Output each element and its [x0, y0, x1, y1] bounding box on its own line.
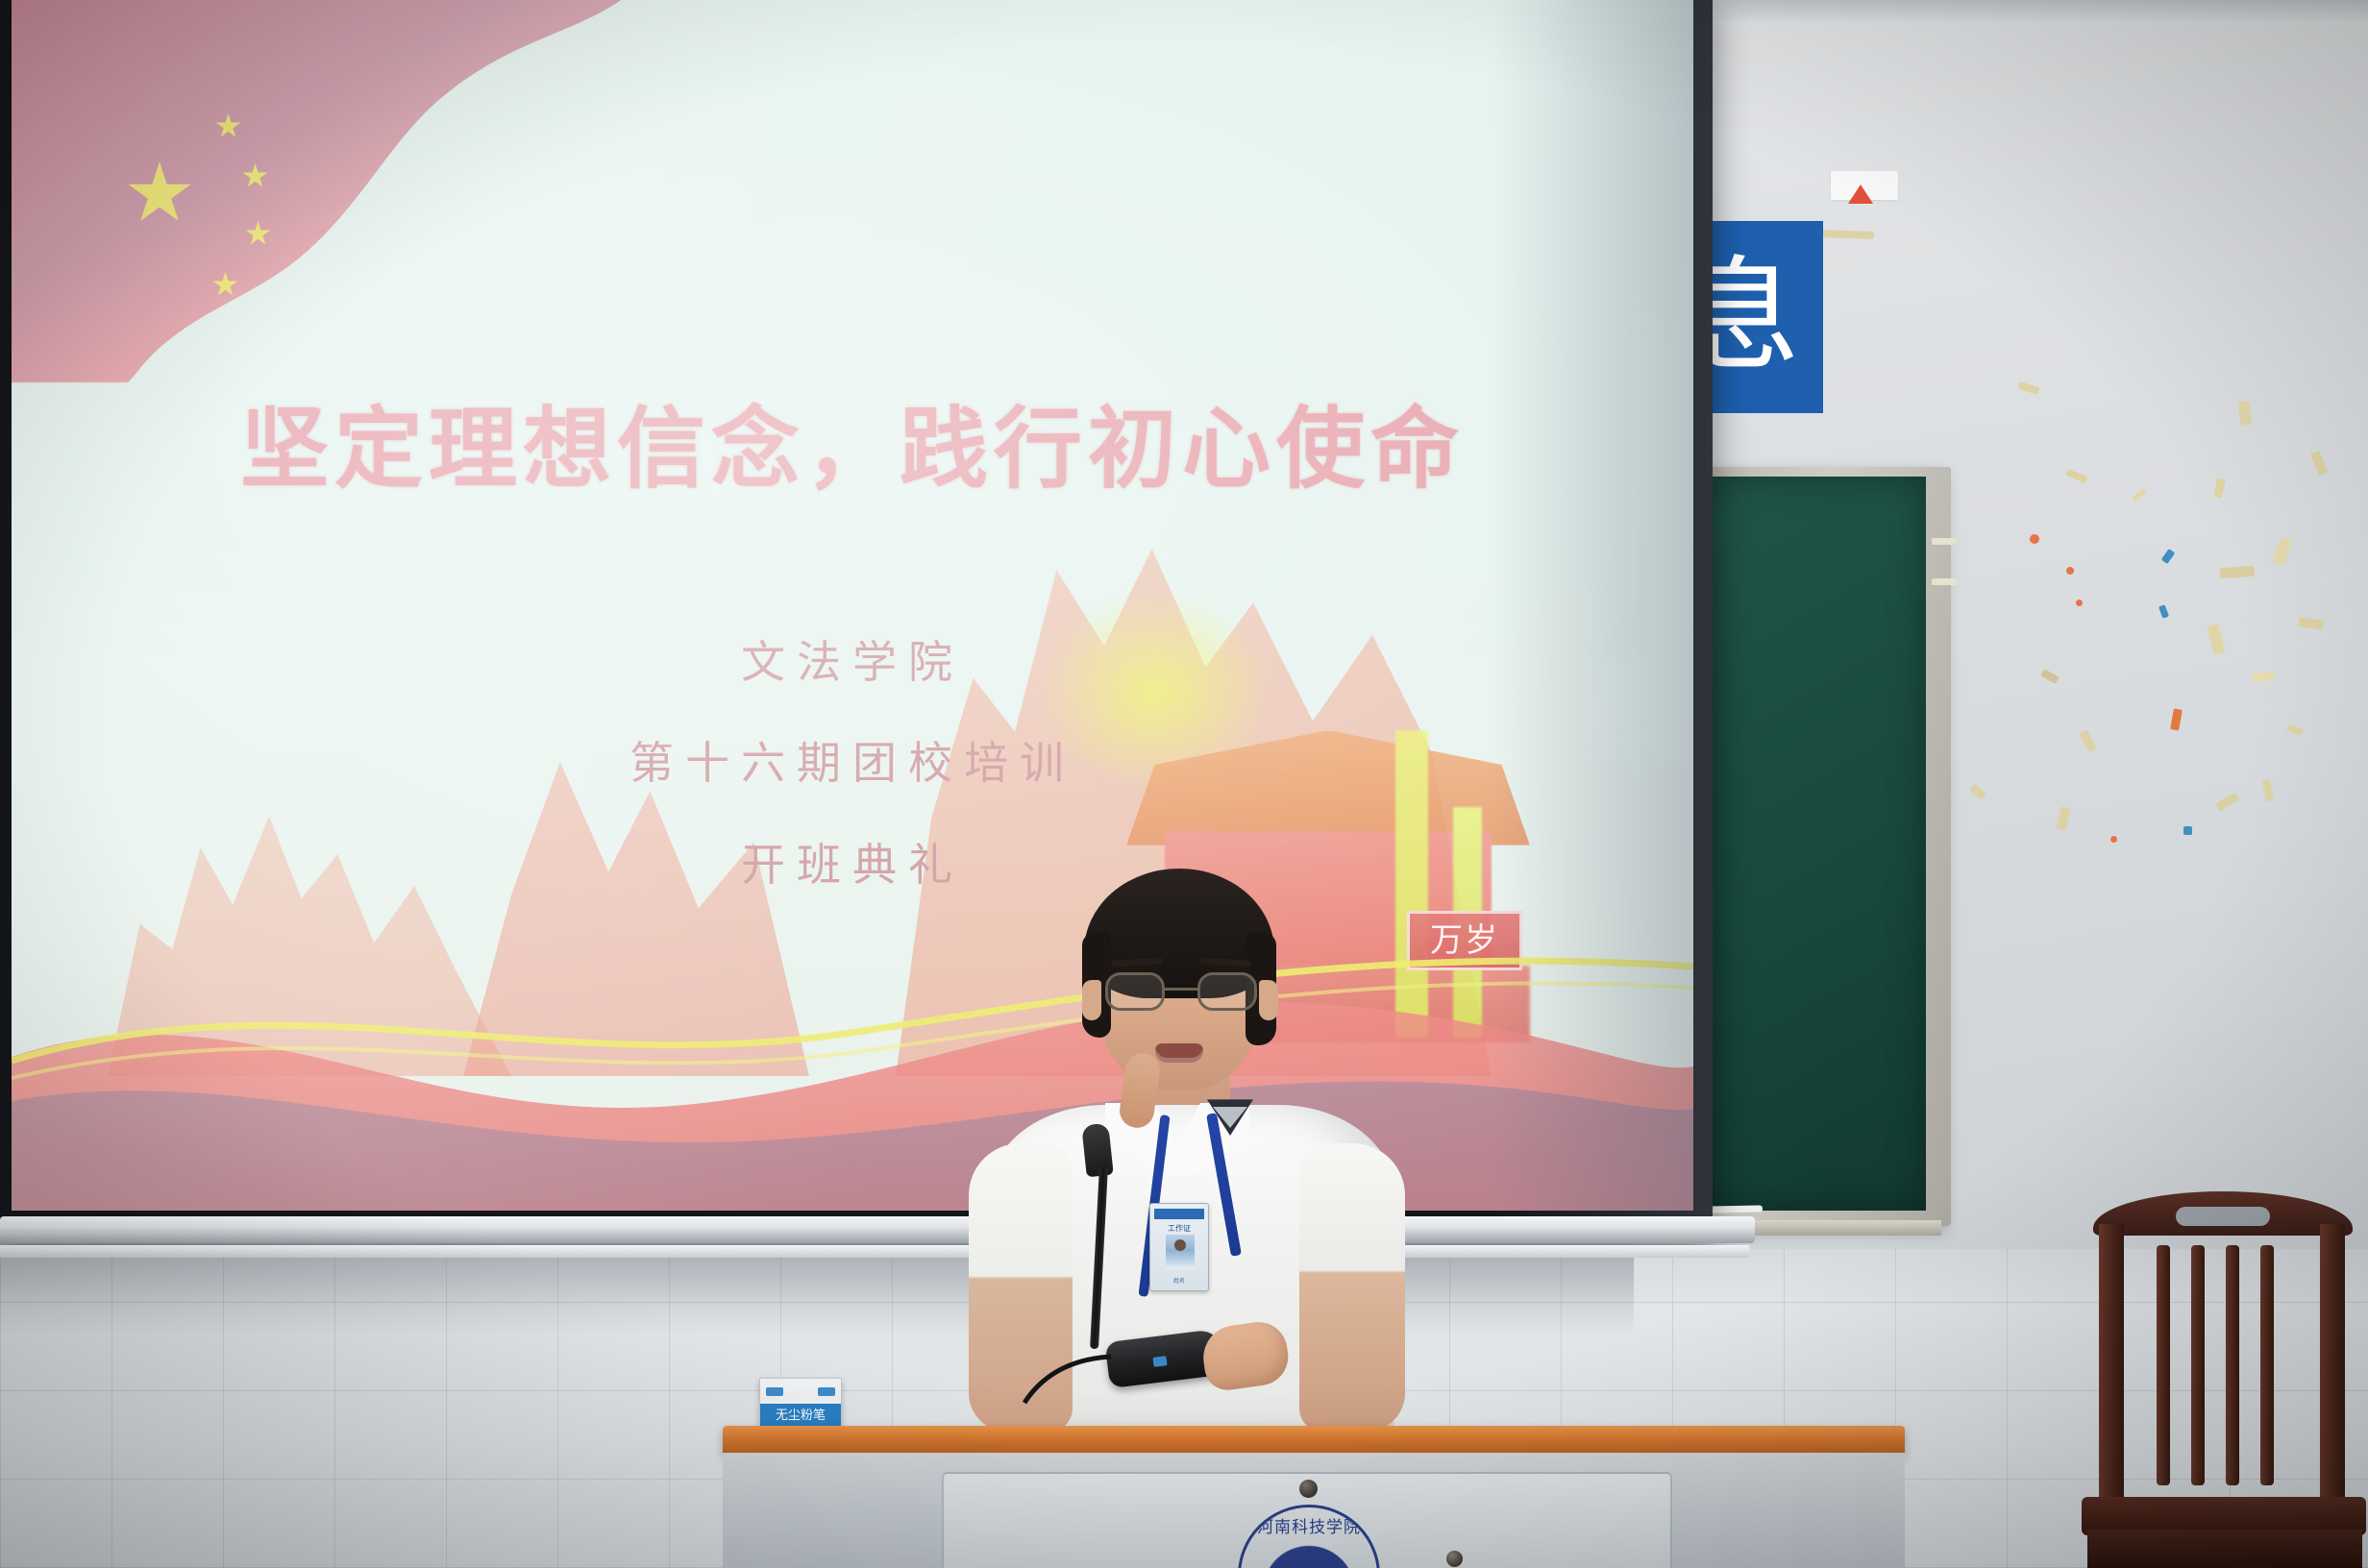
chair-slat-4: [2260, 1245, 2274, 1485]
chalk-box-mark-left: [766, 1387, 783, 1396]
badge-footer: 姓名: [1150, 1276, 1208, 1285]
lens-left: [1105, 972, 1165, 1011]
right-arm: [1299, 1143, 1405, 1432]
emblem-text: 河南科技学院: [1241, 1513, 1377, 1537]
podium-top-edge: [723, 1426, 1905, 1455]
wooden-chair: [2093, 1191, 2353, 1568]
projector-screen-frame: 万岁 坚定理想信念，践行初心使命 文法学院 第十六期团校培训 开班典礼: [0, 0, 1713, 1239]
chalkboard-surface: [1701, 477, 1926, 1211]
slide-swoosh-curve: [12, 917, 1693, 1090]
slide-title: 坚定理想信念，践行初心使命: [12, 378, 1693, 505]
badge-header-bar: [1154, 1209, 1204, 1219]
lens-right: [1197, 972, 1257, 1011]
chalk-box-mark-right: [818, 1387, 835, 1396]
id-badge: 工作证 姓名: [1149, 1203, 1209, 1291]
slide-subtitle-line-3: 开班典礼: [12, 830, 1693, 894]
glasses-bridge: [1165, 988, 1197, 991]
wall-ledge: [0, 1245, 1749, 1258]
chair-slat-2: [2191, 1245, 2205, 1485]
podium-screw-right: [1446, 1551, 1463, 1567]
chair-apron: [2087, 1530, 2362, 1568]
university-emblem: 河南科技学院: [1238, 1505, 1380, 1568]
ear-left: [1082, 980, 1101, 1020]
chalk-box-top: [766, 1385, 835, 1397]
badge-title: 工作证: [1150, 1223, 1208, 1234]
eyeglasses: [1105, 972, 1257, 1011]
ceiling-strip: [1691, 0, 2368, 21]
chalk-piece: [1707, 1205, 1763, 1213]
chair-post-right: [2320, 1224, 2345, 1541]
mouth: [1155, 1043, 1203, 1063]
board-clip-mid: [1932, 578, 1957, 585]
badge-photo: [1166, 1235, 1195, 1269]
board-clip-top: [1932, 538, 1957, 545]
chalkboard: [1693, 467, 1951, 1226]
chair-crest-cutout: [2176, 1207, 2270, 1226]
slide-subtitle-line-1: 文法学院: [12, 627, 1693, 691]
chair-slat-1: [2157, 1245, 2170, 1485]
red-triangle-marker-icon: [1848, 184, 1873, 204]
projector-screen: 万岁 坚定理想信念，践行初心使命 文法学院 第十六期团校培训 开班典礼: [12, 0, 1693, 1211]
microphone-power-button[interactable]: [1152, 1356, 1167, 1367]
screenshot-root: 息: [0, 0, 2368, 1568]
slide-subtitle-line-2: 第十六期团校培训: [12, 728, 1693, 792]
podium-screw-top: [1299, 1480, 1318, 1498]
ear-right: [1259, 980, 1278, 1020]
chair-post-left: [2099, 1224, 2124, 1541]
microphone-cable: [1019, 1349, 1115, 1407]
chair-slat-3: [2226, 1245, 2239, 1485]
projector-screen-roller: [0, 1216, 1755, 1243]
